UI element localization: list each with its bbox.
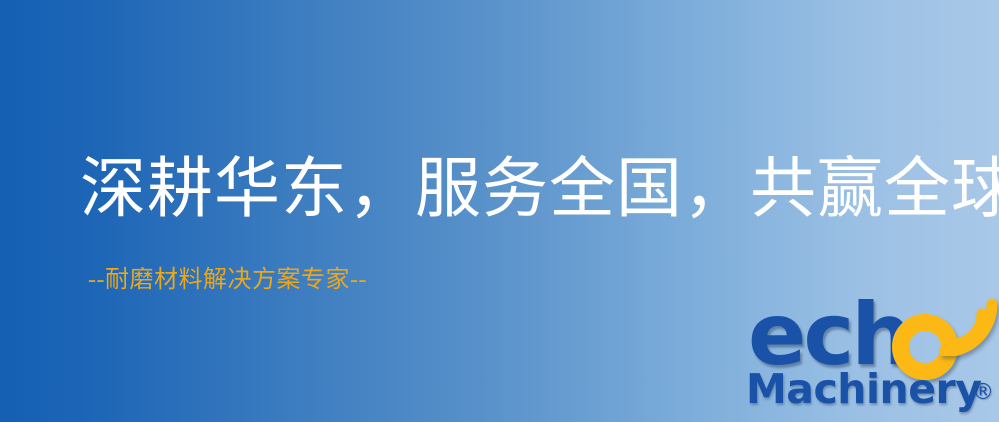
promotional-banner: 深耕华东，服务全国，共赢全球 --耐磨材料解决方案专家-- ech Machin… [0, 0, 999, 422]
banner-subtitle: --耐磨材料解决方案专家-- [88, 266, 367, 294]
company-logo[interactable]: ech Machinery ® [744, 296, 996, 420]
registered-trademark-icon: ® [972, 382, 994, 404]
logo-wordmark: ech [744, 296, 996, 374]
logo-machinery-text: Machinery [746, 366, 981, 412]
signal-waves-icon [940, 288, 999, 356]
banner-headline: 深耕华东，服务全国，共赢全球 [80, 150, 940, 230]
